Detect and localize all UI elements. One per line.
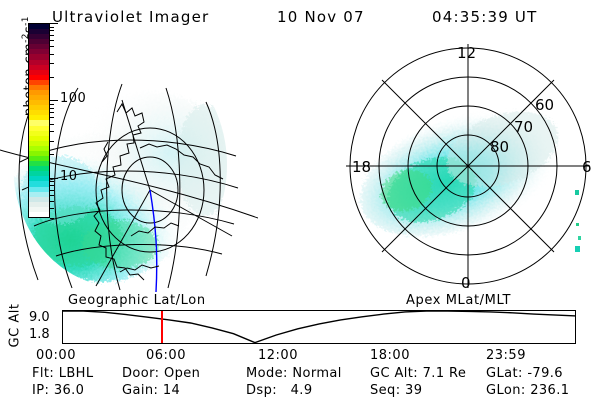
status-row-2: IP: 36.0 Gain: 14 Dsp: 4.9 Seq: 39 GLon:… <box>0 383 600 400</box>
colorbar-ticks <box>50 23 58 218</box>
time-tick-0600: 06:00 <box>146 348 186 363</box>
observation-date: 10 Nov 07 <box>277 8 365 26</box>
stray-pixels <box>575 190 581 252</box>
polar-grid <box>346 44 590 288</box>
gc-alt-min-label: 1.8 <box>29 327 50 342</box>
time-tick-2359: 23:59 <box>486 348 526 363</box>
status-ip: IP: 36.0 <box>32 383 84 398</box>
time-tick-0000: 00:00 <box>36 348 76 363</box>
mlt-label-6: 6 <box>582 158 592 176</box>
current-time-marker <box>161 311 163 343</box>
right-panel-title: Apex MLat/MLT <box>406 293 511 308</box>
mlat-ring-label-70: 70 <box>514 118 533 136</box>
status-seq: Seq: 39 <box>370 383 422 398</box>
status-row-1: Flt: LBHL Door: Open Mode: Normal GC Alt… <box>0 366 600 383</box>
left-panel-title: Geographic Lat/Lon <box>68 293 206 308</box>
mlt-label-18: 18 <box>352 158 371 176</box>
time-tick-1200: 12:00 <box>258 348 298 363</box>
status-glon: GLon: 236.1 <box>486 383 569 398</box>
colorbar-scale <box>28 23 50 218</box>
page-title: Ultraviolet Imager <box>52 8 209 26</box>
apex-polar-panel[interactable]: 12 6 0 18 60 70 80 <box>330 40 600 292</box>
orbit-altitude-curve <box>62 310 576 344</box>
status-glat: GLat: -79.6 <box>486 366 563 381</box>
colorbar-gradient <box>29 24 49 217</box>
observation-time: 04:35:39 UT <box>432 8 537 26</box>
mlat-ring-label-80: 80 <box>490 138 509 156</box>
mlat-ring-label-60: 60 <box>535 96 554 114</box>
status-mode: Mode: Normal <box>246 366 342 381</box>
gc-alt-axis-label: GC Alt <box>8 303 23 349</box>
status-gc-alt: GC Alt: 7.1 Re <box>370 366 466 381</box>
mlt-label-0: 0 <box>461 274 471 292</box>
status-dsp: Dsp: 4.9 <box>246 383 313 398</box>
apex-polar-svg: 12 6 0 18 60 70 80 <box>330 40 600 292</box>
status-gain: Gain: 14 <box>122 383 180 398</box>
mlt-label-12: 12 <box>457 44 476 62</box>
status-flt: Flt: LBHL <box>32 366 94 381</box>
status-door: Door: Open <box>122 366 200 381</box>
colorbar-tick-label-100: 100 <box>60 91 86 106</box>
gc-alt-max-label: 9.0 <box>29 310 50 325</box>
status-footer: Flt: LBHL Door: Open Mode: Normal GC Alt… <box>0 366 600 400</box>
colorbar-tick-label-10: 10 <box>60 169 78 184</box>
time-tick-1800: 18:00 <box>370 348 410 363</box>
